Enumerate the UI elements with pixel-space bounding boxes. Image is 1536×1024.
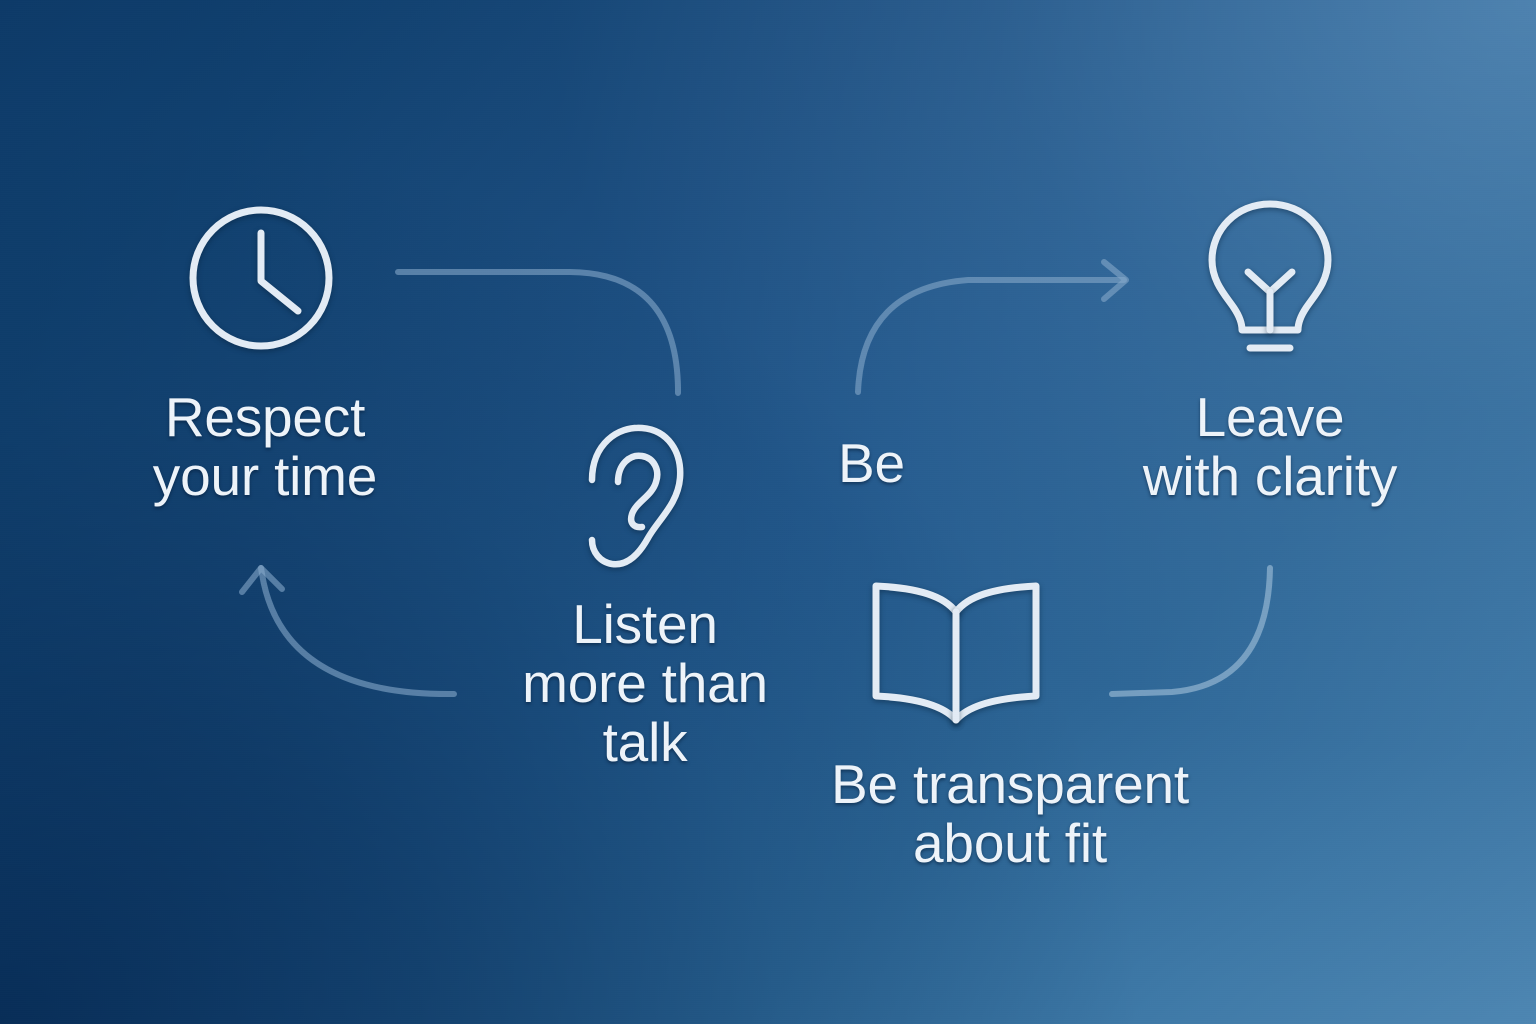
node-label-respect-your-time: Respect your time [0,388,530,506]
connector-respect-to-listen [398,272,678,393]
lightbulb-icon [1204,196,1336,362]
node-label-listen-more-than-talk: Listen more than talk [400,595,890,772]
floating-label-be: Be [838,434,905,493]
infographic-canvas: Respect your time Listen more than talk … [0,0,1536,1024]
open-book-icon [866,572,1046,724]
connector-be-to-clarity [858,280,1124,392]
node-label-leave-with-clarity: Leave with clarity [1020,388,1520,506]
clock-icon [186,203,336,353]
node-label-be-transparent-about-fit: Be transparent about fit [700,755,1320,873]
ear-icon [580,420,690,572]
connector-clarity-to-book [1112,568,1270,694]
